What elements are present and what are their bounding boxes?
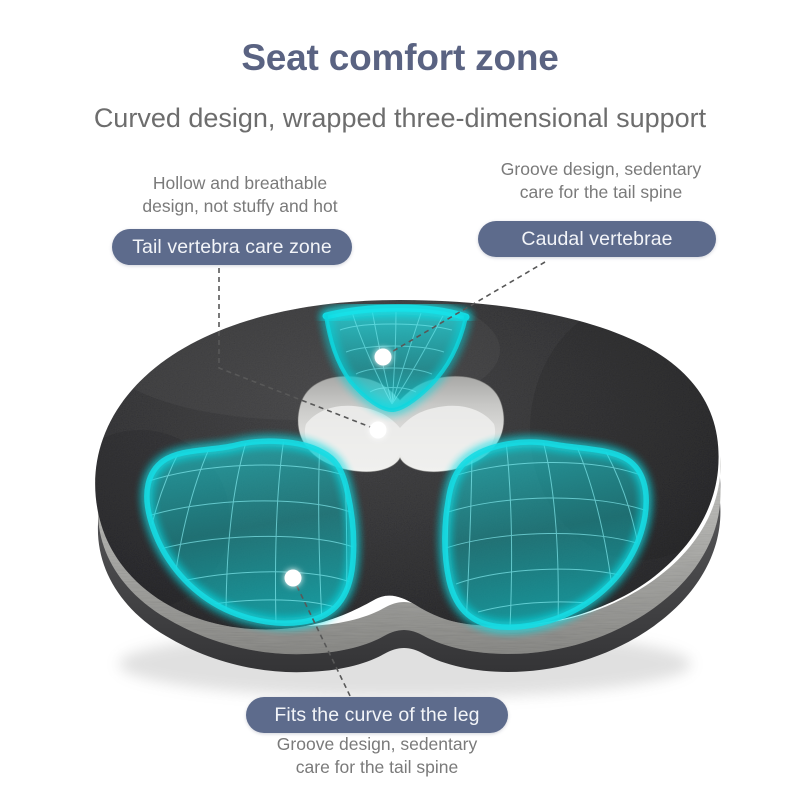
callout-pill-caudal-vertebrae[interactable]: Caudal vertebrae: [478, 221, 716, 257]
callout-pill-tail-vertebra-care-zone[interactable]: Tail vertebra care zone: [112, 229, 352, 265]
cushion-body: [50, 280, 750, 672]
page-subtitle: Curved design, wrapped three-dimensional…: [0, 103, 800, 134]
callout-pill-fits-the-curve-of-the-leg[interactable]: Fits the curve of the leg: [246, 697, 508, 733]
marker-left-thigh-zone: [285, 570, 302, 587]
page-title: Seat comfort zone: [0, 38, 800, 79]
callout-caption-hollow-breathable: Hollow and breathable design, not stuffy…: [100, 172, 380, 218]
marker-tailbone-groove: [375, 349, 392, 366]
callout-caption-caudal-vertebrae: Groove design, sedentary care for the ta…: [470, 158, 732, 204]
infographic-canvas: Seat comfort zone Curved design, wrapped…: [0, 0, 800, 800]
callout-caption-leg-curve: Groove design, sedentary care for the ta…: [232, 733, 522, 779]
marker-center-cutout: [370, 422, 387, 439]
